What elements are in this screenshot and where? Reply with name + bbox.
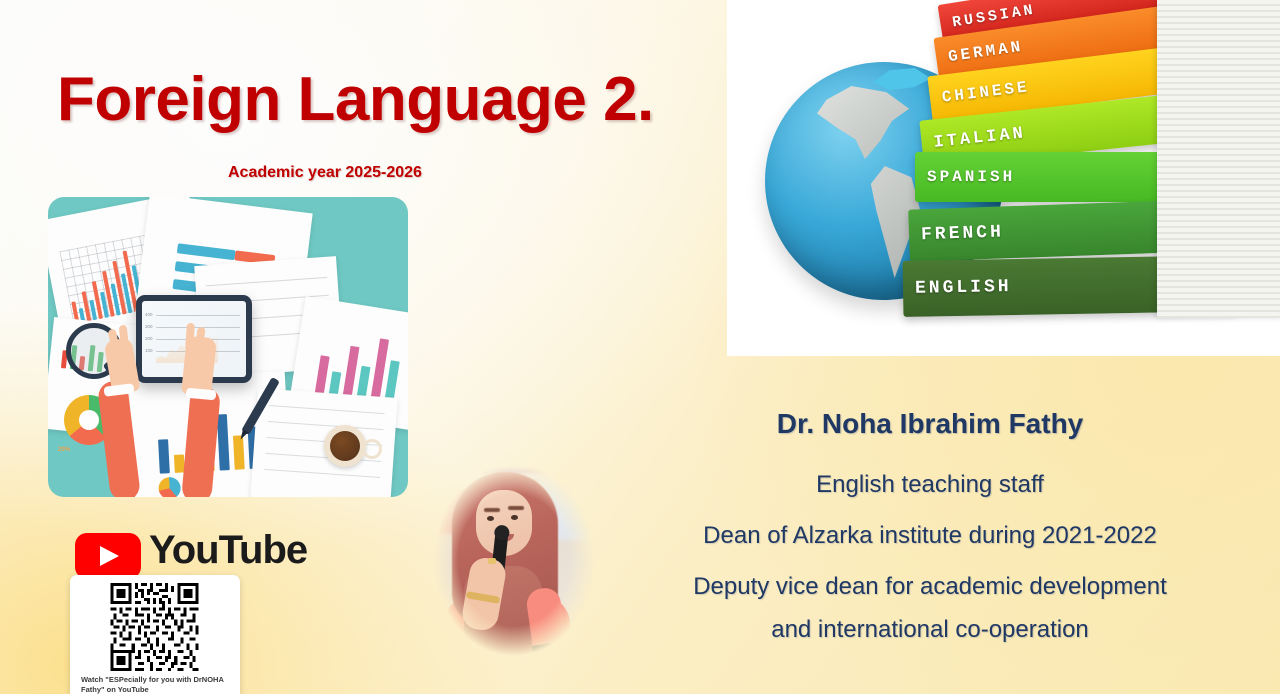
pie-chart-icon bbox=[158, 477, 181, 497]
presenter-role-2: Dean of Alzarka institute during 2021-20… bbox=[600, 517, 1260, 556]
tablet-axis-400: 400 bbox=[145, 312, 153, 317]
youtube-brand-label: YouTube bbox=[149, 528, 307, 573]
book-label-chinese: CHINESE bbox=[941, 78, 1031, 107]
book-label-english: ENGLISH bbox=[915, 277, 1012, 299]
ocean-highlight bbox=[873, 68, 931, 92]
tablet-axis-200: 200 bbox=[145, 336, 153, 341]
book-label-spanish: SPANISH bbox=[927, 168, 1015, 186]
presenter-name: Dr. Noha Ibrahim Fathy bbox=[600, 408, 1260, 440]
donut-label-b: 20% bbox=[58, 447, 70, 453]
books-globe-image: RUSSIAN GERMAN CHINESE ITALIAN SPANISH F… bbox=[727, 0, 1280, 356]
presenter-photo bbox=[414, 446, 614, 694]
presenter-info: Dr. Noha Ibrahim Fathy English teaching … bbox=[600, 408, 1260, 662]
bar-chart-icon bbox=[63, 244, 145, 324]
coffee-cup-icon bbox=[324, 425, 366, 467]
youtube-qr-card[interactable]: Watch "ESPecially for you with DrNOHA Fa… bbox=[70, 575, 240, 694]
qr-code-icon[interactable] bbox=[82, 583, 227, 671]
photo-brow-left bbox=[484, 508, 500, 512]
photo-brow-right bbox=[508, 506, 524, 510]
youtube-play-icon[interactable] bbox=[75, 533, 141, 579]
analytics-illustration: 30% 20% 400 300 200 100 bbox=[48, 197, 408, 497]
photo-eye-right bbox=[511, 515, 518, 520]
photo-eye-left bbox=[487, 516, 494, 521]
presenter-role-1: English teaching staff bbox=[600, 466, 1260, 505]
book-label-italian: ITALIAN bbox=[933, 124, 1027, 153]
book-pages-block bbox=[1157, 0, 1280, 318]
continent-north-america bbox=[817, 86, 913, 162]
tablet-axis-300: 300 bbox=[145, 324, 153, 329]
presenter-role-4: and international co-operation bbox=[600, 611, 1260, 650]
coffee-cup-handle-icon bbox=[362, 439, 382, 459]
book-label-german: GERMAN bbox=[947, 38, 1024, 66]
slide-canvas: Foreign Language 2. Academic year 2025-2… bbox=[0, 0, 1280, 694]
presenter-role-3: Deputy vice dean for academic developmen… bbox=[600, 568, 1260, 607]
tablet-axis-100: 100 bbox=[145, 348, 153, 353]
book-label-french: FRENCH bbox=[921, 222, 1004, 245]
academic-year-subtitle: Academic year 2025-2026 bbox=[228, 164, 422, 182]
qr-caption: Watch "ESPecially for you with DrNOHA Fa… bbox=[81, 675, 233, 694]
hbar-1 bbox=[177, 243, 236, 260]
photo-ring bbox=[488, 558, 496, 564]
page-title: Foreign Language 2. bbox=[57, 64, 654, 135]
